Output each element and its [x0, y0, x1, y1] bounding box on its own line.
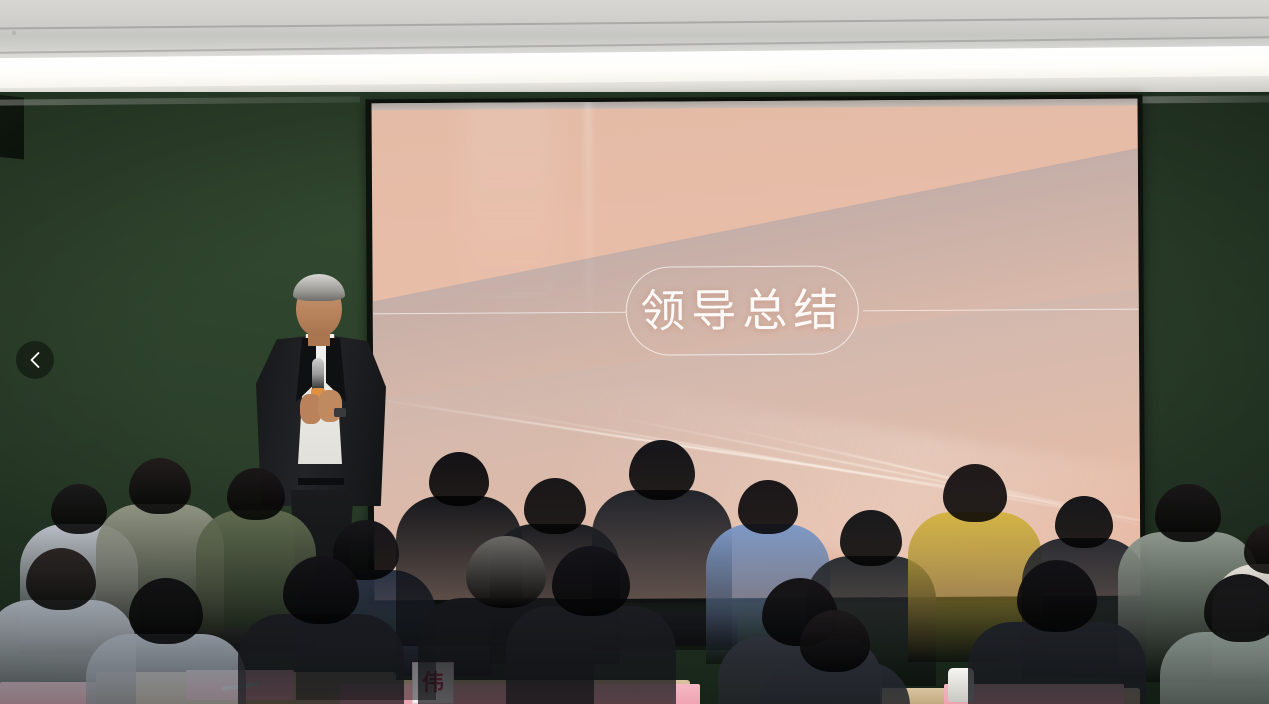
audience-member-head — [129, 578, 203, 644]
audience-member-body — [1160, 632, 1269, 704]
wall-trim-right — [1140, 96, 1269, 104]
audience-member-body — [506, 606, 676, 704]
audience-member-head — [629, 440, 695, 500]
presenter-hair — [293, 274, 345, 301]
presenter-hand-right — [318, 390, 342, 422]
audience-member-head — [524, 478, 586, 534]
audience-member — [760, 610, 910, 704]
audience-member-body — [238, 614, 404, 704]
audience-member-head — [227, 468, 285, 520]
audience-member — [506, 546, 676, 704]
presenter-watch — [334, 408, 346, 417]
audience-member-head — [1017, 560, 1097, 632]
audience-member-body — [968, 622, 1146, 704]
chevron-left-icon — [28, 351, 42, 369]
audience-member-head — [129, 458, 191, 514]
screen-glare-wide — [463, 102, 554, 311]
audience-member-head — [800, 610, 870, 672]
audience — [0, 430, 1269, 704]
audience-member-head — [429, 452, 489, 506]
screen-glare-streak — [586, 102, 592, 331]
audience-member-head — [943, 464, 1007, 522]
audience-member-head — [552, 546, 630, 616]
prev-slide-button[interactable] — [16, 341, 54, 379]
audience-member — [968, 560, 1146, 704]
audience-member-head — [1055, 496, 1113, 548]
audience-member-body — [86, 634, 246, 704]
audience-member — [86, 578, 246, 704]
presentation-photo-scene: 领导总结 伟 — [0, 0, 1269, 704]
slide-title-pill: 领导总结 — [625, 265, 859, 356]
audience-member — [238, 556, 404, 704]
ceiling-seam — [0, 16, 1269, 29]
ceiling-fixture-dot — [12, 31, 16, 35]
audience-member — [1160, 574, 1269, 704]
audience-member-head — [738, 480, 798, 534]
audience-member-head — [1204, 574, 1269, 642]
audience-member-head — [840, 510, 902, 566]
audience-member-head — [283, 556, 359, 624]
slide-title: 领导总结 — [640, 288, 844, 334]
